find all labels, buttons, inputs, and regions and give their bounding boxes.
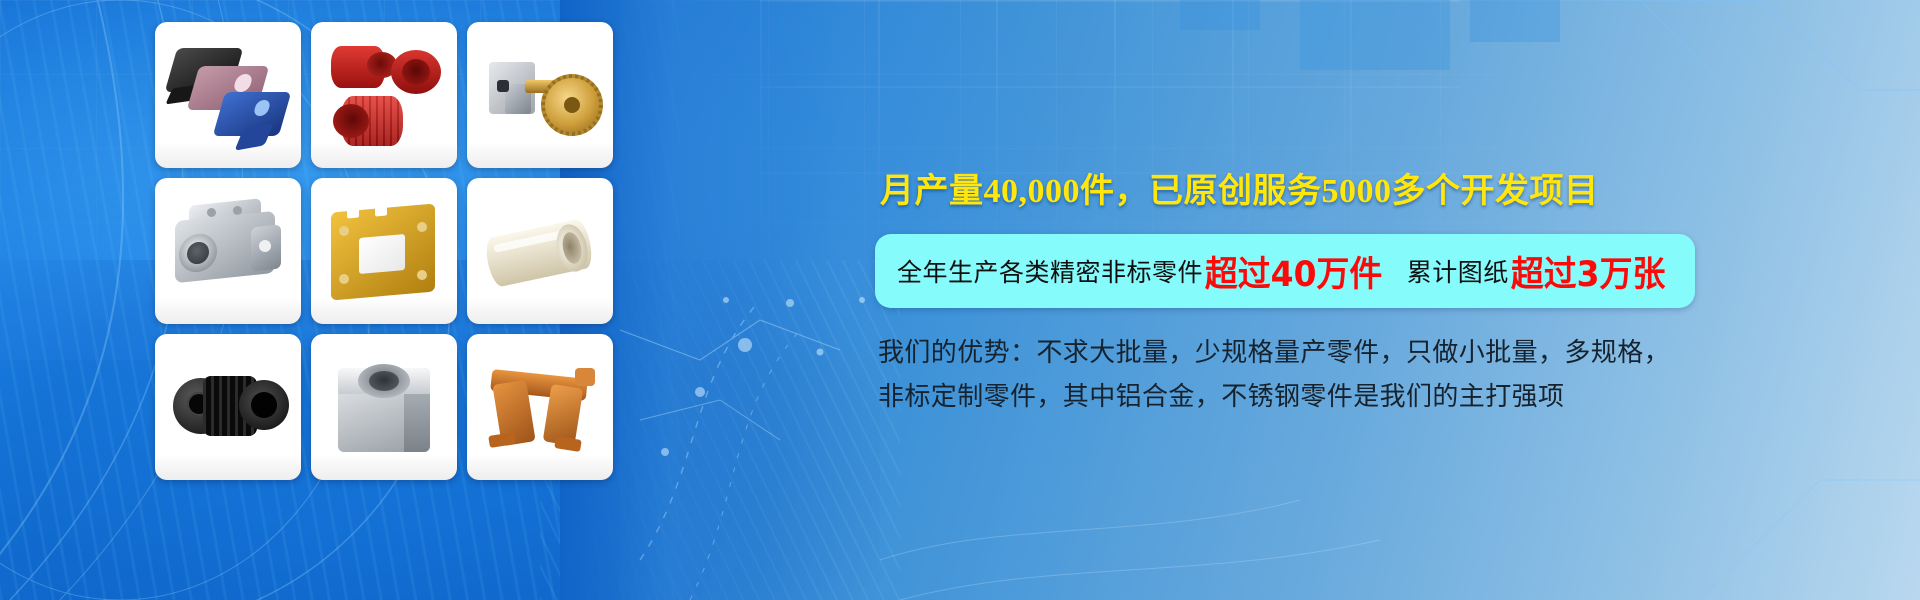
body-line-1: 我们的优势：不求大批量，少规格量产零件，只做小批量，多规格， xyxy=(878,330,1838,374)
promo-banner: 月产量40,000件，已原创服务5000多个开发项目 全年生产各类精密非标零件 … xyxy=(0,0,1920,600)
product-photo-aluminium-gearbox-housing xyxy=(155,178,301,324)
gallery-item-aluminium-gearbox-housing[interactable] xyxy=(155,178,301,324)
highlight-text-2: 累计图纸 xyxy=(1407,253,1509,289)
gallery-item-gold-anodized-frame-plate[interactable] xyxy=(311,178,457,324)
gallery-item-black-bellows-hub[interactable] xyxy=(155,334,301,480)
product-photo-steel-cube-bore xyxy=(311,334,457,480)
product-photo-anodized-bracket-trio xyxy=(155,22,301,168)
banner-highlight-strip: 全年生产各类精密非标零件 超过40万件 累计图纸 超过3万张 xyxy=(875,234,1695,308)
gallery-item-steel-cube-bore[interactable] xyxy=(311,334,457,480)
highlight-text-1: 全年生产各类精密非标零件 xyxy=(897,253,1203,289)
highlight-emphasis-2: 超过3万张 xyxy=(1509,246,1667,297)
product-photo-ivory-plastic-tube xyxy=(467,178,613,324)
highlight-emphasis-1: 超过40万件 xyxy=(1203,246,1384,297)
banner-copy: 月产量40,000件，已原创服务5000多个开发项目 全年生产各类精密非标零件 … xyxy=(875,0,1875,600)
product-photo-copper-support-bracket xyxy=(467,334,613,480)
product-gallery xyxy=(155,22,613,480)
product-photo-gold-anodized-frame-plate xyxy=(311,178,457,324)
gallery-item-ivory-plastic-tube[interactable] xyxy=(467,178,613,324)
banner-headline: 月产量40,000件，已原创服务5000多个开发项目 xyxy=(880,163,1599,212)
gallery-item-copper-support-bracket[interactable] xyxy=(467,334,613,480)
banner-body-text: 我们的优势：不求大批量，少规格量产零件，只做小批量，多规格， 非标定制零件，其中… xyxy=(878,330,1838,418)
gallery-item-anodized-bracket-trio[interactable] xyxy=(155,22,301,168)
gallery-item-steel-block-brass-gear[interactable] xyxy=(467,22,613,168)
product-photo-black-bellows-hub xyxy=(155,334,301,480)
product-photo-steel-block-brass-gear xyxy=(467,22,613,168)
body-line-2: 非标定制零件，其中铝合金，不锈钢零件是我们的主打强项 xyxy=(878,374,1838,418)
product-photo-red-cylinder-housings xyxy=(311,22,457,168)
gallery-item-red-cylinder-housings[interactable] xyxy=(311,22,457,168)
